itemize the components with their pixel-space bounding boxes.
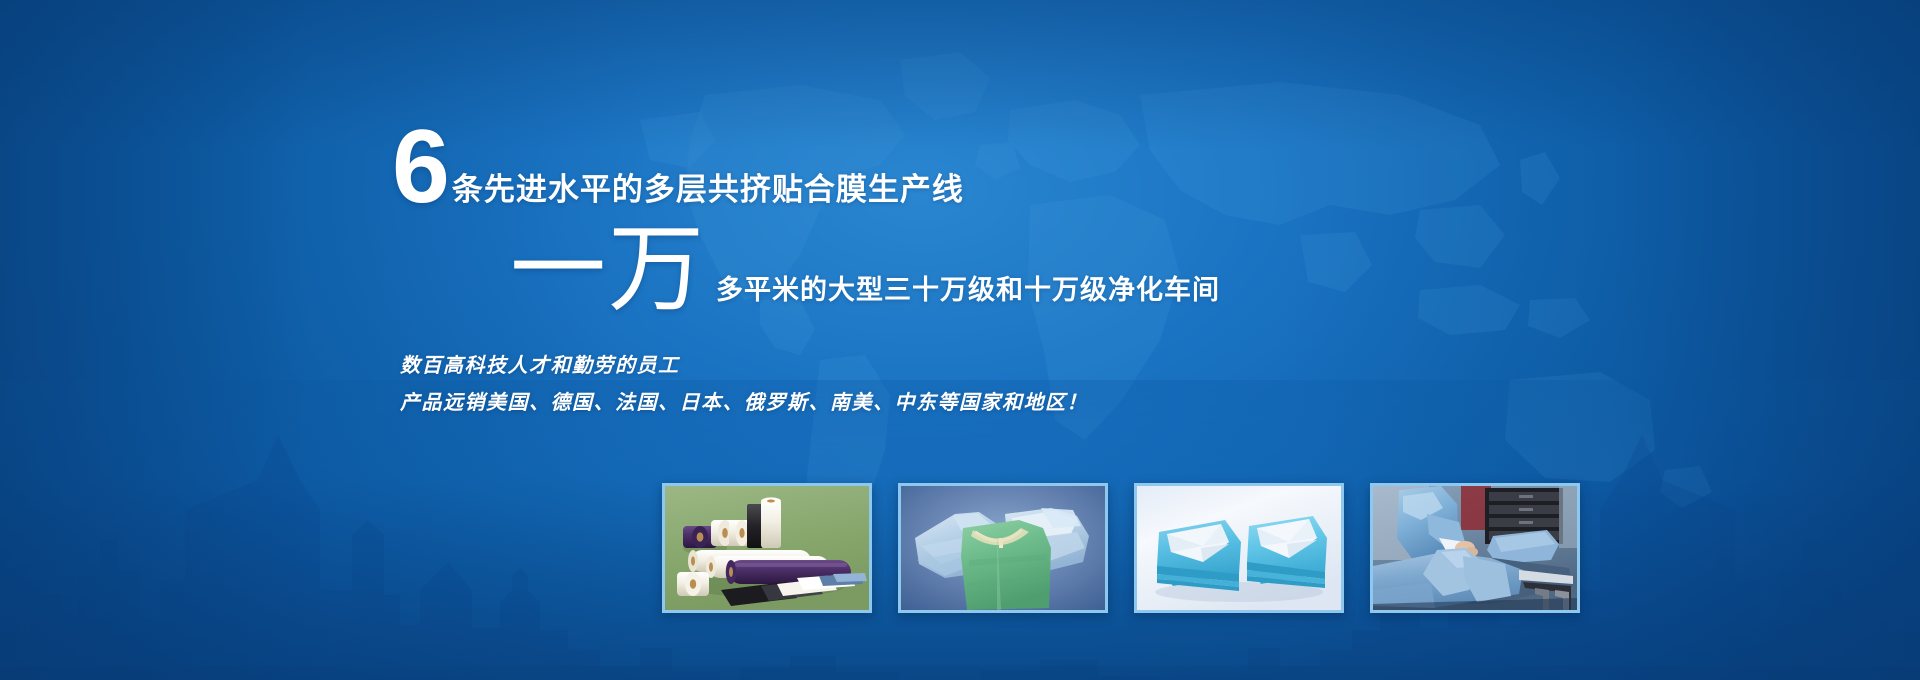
gallery-item-operating-table-drape[interactable] <box>1370 483 1580 613</box>
stat-label-cleanroom-area: 多平米的大型三十万级和十万级净化车间 <box>716 268 1220 307</box>
photo-surgical-drape-packs <box>1137 486 1341 610</box>
gallery-item-surgical-gowns[interactable] <box>898 483 1108 613</box>
subcopy-block: 数百高科技人才和勤劳的员工 产品远销美国、德国、法国、日本、俄罗斯、南美、中东等… <box>392 348 1392 422</box>
photo-surgical-gowns <box>901 486 1105 610</box>
headline-line-2: 一万 多平米的大型三十万级和十万级净化车间 <box>392 224 1392 316</box>
gallery-item-surgical-drape-packs[interactable] <box>1134 483 1344 613</box>
subcopy-line-staff: 数百高科技人才和勤劳的员工 <box>400 348 1392 385</box>
stat-number-production-lines: 6 <box>392 118 448 216</box>
promo-banner: 6 条先进水平的多层共挤贴合膜生产线 一万 多平米的大型三十万级和十万级净化车间… <box>0 0 1920 680</box>
stat-number-cleanroom-area: 一万 <box>510 224 706 316</box>
headline-block: 6 条先进水平的多层共挤贴合膜生产线 一万 多平米的大型三十万级和十万级净化车间… <box>392 118 1392 422</box>
headline-line-1: 6 条先进水平的多层共挤贴合膜生产线 <box>392 118 1392 216</box>
stat-label-production-lines: 条先进水平的多层共挤贴合膜生产线 <box>452 164 964 209</box>
photo-operating-table-drape <box>1373 486 1577 610</box>
photo-plastic-film-rolls <box>665 486 869 610</box>
product-gallery <box>662 483 1580 613</box>
subcopy-line-markets: 产品远销美国、德国、法国、日本、俄罗斯、南美、中东等国家和地区！ <box>400 385 1392 422</box>
gallery-item-plastic-film-rolls[interactable] <box>662 483 872 613</box>
